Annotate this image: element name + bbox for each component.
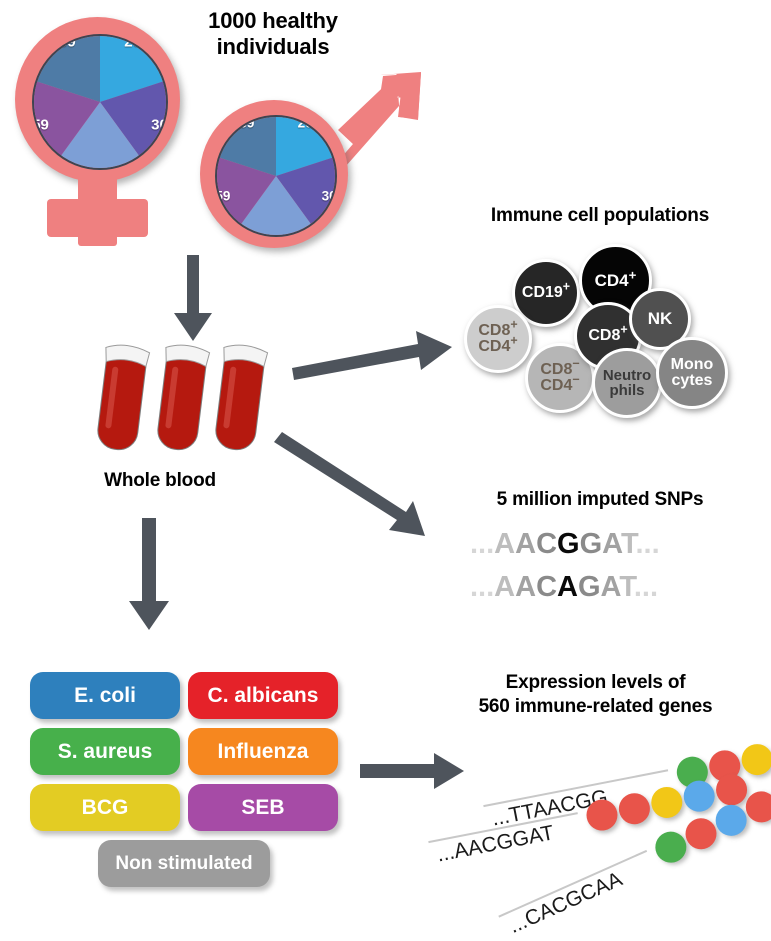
stimulation-box-non-stimulated[interactable]: Non stimulated: [98, 840, 270, 887]
expression-bead: [584, 797, 620, 833]
expression-bead: [649, 784, 685, 820]
stimulation-box-label: BCG: [82, 796, 129, 820]
stimulation-box-seb[interactable]: SEB: [188, 784, 338, 831]
snp-sequences: ...AACGGAT......AACAGAT...: [470, 528, 760, 618]
immune-cell-label: CD19+: [522, 285, 570, 301]
expression-bead: [616, 791, 652, 827]
expression-strands: ...TTAACGG...AACGGAT...CACGCAA: [430, 735, 771, 915]
expression-title-line2: 560 immune-related genes: [420, 695, 771, 719]
immune-cell-label: NK: [648, 310, 673, 327]
immune-cell-label: Monocytes: [671, 357, 714, 390]
figure-canvas: 1000 healthy individuals 20-2930-3940-49…: [0, 0, 771, 922]
immune-cell-label: CD8+CD4+: [478, 323, 517, 356]
expression-title-line1: Expression levels of: [420, 671, 771, 695]
stimulation-box-label: Non stimulated: [115, 853, 252, 875]
snp-sequence-row: ...AACGGAT...: [470, 528, 660, 561]
stimulation-box-influenza[interactable]: Influenza: [188, 728, 338, 775]
stimulation-box-label: Influenza: [217, 740, 308, 764]
stimulation-box-e-coli[interactable]: E. coli: [30, 672, 180, 719]
expression-section-title: Expression levels of 560 immune-related …: [420, 671, 771, 719]
snps-section-title: 5 million imputed SNPs: [430, 489, 770, 511]
immune-cell-label: CD8+: [588, 328, 627, 344]
snp-sequence-row: ...AACAGAT...: [470, 571, 658, 604]
immune-cell-cd8-cd4[interactable]: CD8+CD4+: [464, 305, 532, 373]
stimulation-box-bcg[interactable]: BCG: [30, 784, 180, 831]
stimulation-box-label: S. aureus: [58, 740, 153, 764]
stimulation-box-c-albicans[interactable]: C. albicans: [188, 672, 338, 719]
immune-cell-label: CD4+: [595, 272, 637, 289]
immune-cell-label: Neutrophils: [603, 368, 651, 399]
immune-cell-mono-cytes[interactable]: Monocytes: [656, 337, 728, 409]
stimulation-box-label: SEB: [241, 796, 284, 820]
expression-bead: [681, 778, 717, 814]
immune-cell-label: CD8−CD4−: [540, 362, 579, 395]
immune-cell-neutro-phils[interactable]: Neutrophils: [592, 348, 662, 418]
stimulation-panel: E. coliC. albicansS. aureusInfluenzaBCGS…: [30, 672, 350, 902]
stimulation-box-label: E. coli: [74, 684, 136, 708]
stimulation-box-s-aureus[interactable]: S. aureus: [30, 728, 180, 775]
stimulation-box-label: C. albicans: [208, 684, 319, 708]
